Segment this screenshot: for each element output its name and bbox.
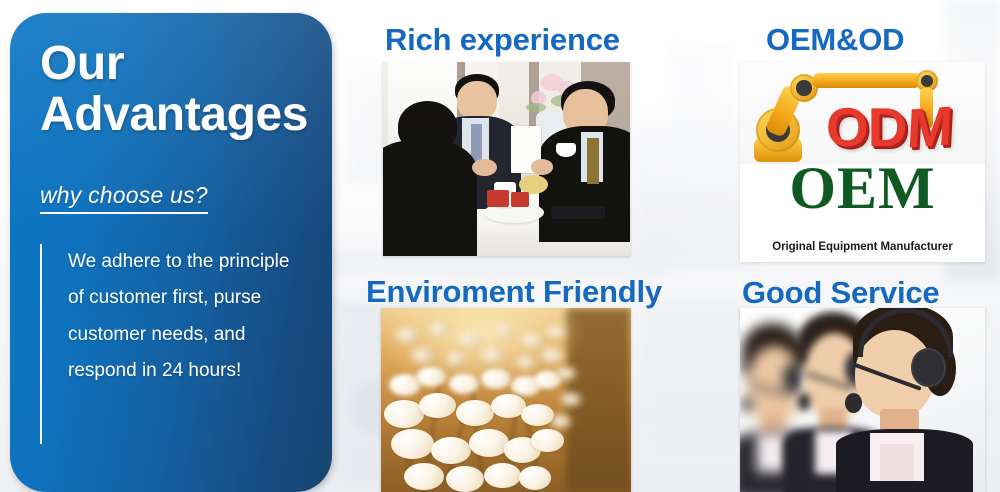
cotton-boll	[396, 328, 419, 343]
photo-oem-odm-logo: ODM OEM Original Equipment Manufacturer	[740, 62, 985, 262]
cotton-boll	[534, 371, 562, 389]
agent-headset-mic	[742, 397, 752, 412]
cotton-boll	[484, 463, 522, 489]
cotton-boll	[481, 348, 504, 363]
cotton-boll	[459, 332, 482, 347]
oem-logo-tagline: Original Equipment Manufacturer	[740, 241, 985, 253]
meeting-teacup	[556, 143, 576, 157]
odm-letter-m: M	[905, 98, 953, 156]
cotton-boll	[416, 367, 446, 387]
oem-logo-text: OEM	[740, 158, 985, 218]
cotton-boll	[419, 393, 457, 419]
photo-cotton-field	[381, 308, 631, 492]
panel-subheading: why choose us?	[40, 182, 208, 214]
cotton-boll	[521, 334, 544, 349]
advantages-panel: Our Advantages why choose us? We adhere …	[10, 13, 332, 492]
robot-arm-upper-segment	[812, 73, 922, 88]
cotton-boll	[446, 466, 484, 492]
meeting-food	[519, 175, 549, 194]
cotton-boll	[551, 415, 571, 428]
panel-blurb-text: We adhere to the principle of customer f…	[68, 244, 300, 444]
meeting-red-container	[487, 190, 509, 207]
agent-collar-stripe	[880, 444, 914, 481]
section-title-rich-experience: Rich experience	[385, 22, 620, 58]
meeting-notebook	[551, 206, 605, 220]
agent-headset-mic	[798, 393, 810, 411]
agent-headset-mic	[845, 393, 862, 413]
cotton-boll	[449, 374, 479, 394]
meeting-hand	[531, 159, 553, 175]
section-title-oem-odm: OEM&OD	[766, 22, 904, 58]
odm-letter-d: D	[868, 96, 907, 158]
vertical-rule-divider	[40, 244, 42, 444]
service-agent-front	[843, 308, 966, 492]
photo-business-meeting	[383, 62, 630, 256]
headline-line-1: Our	[40, 40, 310, 88]
meeting-red-container	[511, 192, 528, 208]
cotton-boll	[429, 323, 449, 336]
robot-joint-cap	[796, 80, 812, 96]
cotton-boll	[456, 400, 494, 426]
cotton-boll	[531, 429, 564, 451]
section-title-enviroment-friendly: Enviroment Friendly	[366, 274, 662, 310]
meeting-person-right-tie	[587, 138, 599, 185]
headline-line-2: Advantages	[40, 91, 310, 139]
meeting-person-center-head	[457, 81, 497, 120]
cotton-boll	[384, 400, 424, 428]
cotton-boll	[481, 369, 511, 389]
meeting-person-left-suit	[383, 140, 477, 256]
cotton-boll	[494, 325, 514, 338]
page-title: Our Advantages	[40, 40, 310, 140]
cotton-boll	[521, 404, 554, 426]
cotton-boll	[519, 466, 552, 490]
cotton-boll	[411, 348, 434, 363]
robot-joint-cap	[921, 75, 933, 87]
cotton-boll	[446, 352, 466, 365]
cotton-boll	[391, 429, 434, 458]
cotton-boll	[404, 463, 444, 491]
cotton-boll	[469, 429, 509, 457]
cotton-boll	[541, 348, 564, 363]
cotton-boll	[561, 393, 581, 406]
advantages-banner: Our Advantages why choose us? We adhere …	[0, 0, 1000, 492]
agent-headset-earcup	[911, 348, 945, 387]
odm-logo-text: ODM	[826, 100, 951, 155]
cotton-boll	[516, 356, 536, 369]
section-title-good-service: Good Service	[742, 275, 939, 311]
odm-letter-o: O	[826, 96, 868, 158]
meeting-hand	[472, 159, 497, 176]
panel-blurb-block: We adhere to the principle of customer f…	[40, 244, 310, 444]
photo-customer-service	[740, 308, 985, 492]
